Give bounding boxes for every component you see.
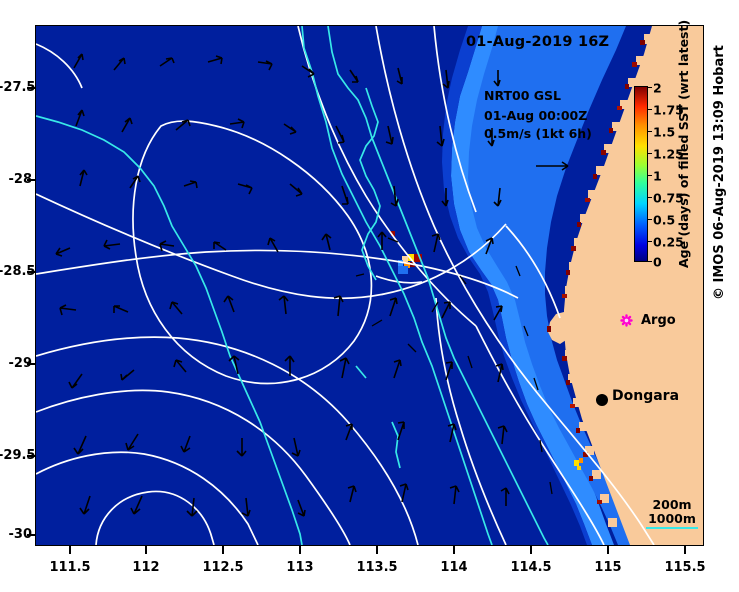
map-plot-area[interactable]: 01-Aug-2019 16Z NRT00 GSL 01-Aug 00:00Z … — [35, 25, 704, 546]
colorbar-tick — [648, 175, 652, 176]
xtick-label: 113 — [270, 560, 330, 575]
dongara-label: Dongara — [612, 388, 679, 404]
bathymetry-legend: 200m 1000m — [646, 498, 698, 529]
xtick-label: 113.5 — [347, 560, 407, 575]
colorbar-tick — [648, 153, 652, 154]
colorbar[interactable] — [634, 86, 648, 262]
colorbar-label: 2 — [653, 81, 662, 96]
ytick-label: -27.5 — [0, 80, 32, 95]
colorbar-label: 0.5 — [653, 213, 675, 228]
xtick-mark — [376, 546, 378, 554]
colorbar-label: 1.5 — [653, 125, 675, 140]
xtick-label: 115 — [578, 560, 638, 575]
colorbar-tick — [648, 219, 652, 220]
xtick-mark — [145, 546, 147, 554]
depth-label-shallow: 200m — [646, 498, 698, 512]
xtick-label: 114.5 — [501, 560, 561, 575]
ytick-label: -30 — [0, 527, 32, 542]
xtick-mark — [453, 546, 455, 554]
map-title: 01-Aug-2019 16Z — [466, 34, 609, 50]
colorbar-tick — [648, 261, 652, 262]
dongara-marker[interactable] — [596, 394, 608, 406]
xtick-label: 114 — [424, 560, 484, 575]
colorbar-tick — [648, 241, 652, 242]
xtick-label: 115.5 — [655, 560, 715, 575]
annotation-time: 01-Aug 00:00Z — [484, 108, 587, 123]
colorbar-title: Age (days) of filled SST (wrt latest) — [676, 88, 691, 268]
depth-label-deep: 1000m — [646, 512, 698, 526]
annotation-product: NRT00 GSL — [484, 88, 561, 103]
xtick-mark — [607, 546, 609, 554]
colorbar-tick — [648, 87, 652, 88]
argo-star-icon — [620, 314, 633, 327]
colorbar-label: 1 — [653, 169, 662, 184]
xtick-mark — [299, 546, 301, 554]
xtick-mark — [530, 546, 532, 554]
xtick-mark — [684, 546, 686, 554]
map-canvas — [36, 26, 703, 545]
ytick-label: -29.5 — [0, 448, 32, 463]
ytick-label: -29 — [0, 356, 32, 371]
argo-legend: Argo — [620, 313, 676, 328]
credit-text: © IMOS 06-Aug-2019 13:09 Hobart — [712, 45, 727, 300]
depth-legend-line — [646, 527, 698, 529]
map-figure: 01-Aug-2019 16Z NRT00 GSL 01-Aug 00:00Z … — [0, 0, 739, 592]
argo-legend-label: Argo — [641, 313, 676, 328]
vector-scale-arrow — [534, 159, 580, 173]
annotation-scale: 0.5m/s (1kt 6h) — [484, 126, 592, 141]
colorbar-tick — [648, 197, 652, 198]
xtick-mark — [69, 546, 71, 554]
xtick-mark — [222, 546, 224, 554]
colorbar-tick — [648, 109, 652, 110]
colorbar-gradient — [635, 87, 647, 261]
ytick-label: -28.5 — [0, 264, 32, 279]
colorbar-tick — [648, 131, 652, 132]
colorbar-label: 0 — [653, 255, 662, 270]
ytick-label: -28 — [0, 172, 32, 187]
xtick-label: 112.5 — [193, 560, 253, 575]
xtick-label: 112 — [116, 560, 176, 575]
xtick-label: 111.5 — [40, 560, 100, 575]
